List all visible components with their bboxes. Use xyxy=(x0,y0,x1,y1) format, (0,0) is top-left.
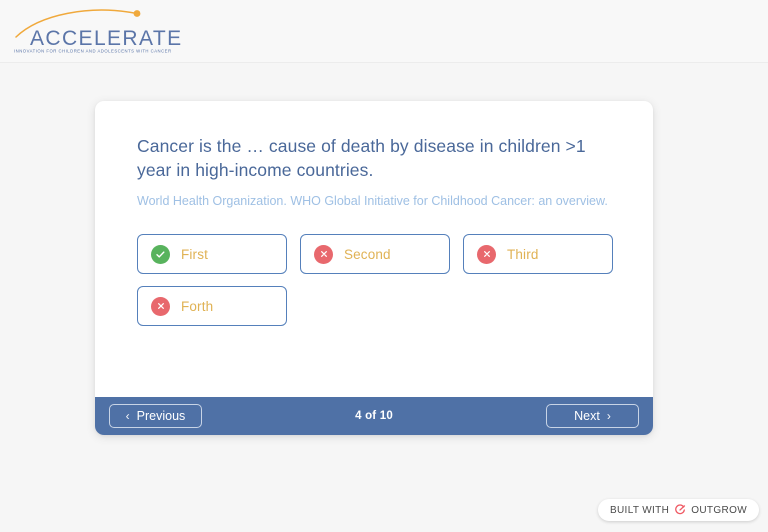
question-source-citation: World Health Organization. WHO Global In… xyxy=(137,193,611,211)
answer-option-third[interactable]: Third xyxy=(463,234,613,274)
accelerate-logo[interactable]: ACCELERATE INNOVATION FOR CHILDREN AND A… xyxy=(12,4,172,56)
answer-option-first[interactable]: First xyxy=(137,234,287,274)
logo-tagline: INNOVATION FOR CHILDREN AND ADOLESCENTS … xyxy=(14,49,172,54)
logo-wordmark: ACCELERATE xyxy=(30,27,182,51)
page-header: ACCELERATE INNOVATION FOR CHILDREN AND A… xyxy=(0,0,768,63)
built-with-outgrow-badge[interactable]: BUILT WITH OUTGROW xyxy=(598,499,759,521)
answer-option-label: First xyxy=(181,247,208,262)
next-button[interactable]: Next › xyxy=(546,404,639,428)
badge-brand-label: OUTGROW xyxy=(691,505,747,516)
chevron-left-icon: ‹ xyxy=(126,410,130,422)
answer-option-label: Forth xyxy=(181,299,213,314)
x-circle-icon xyxy=(151,297,170,316)
check-circle-icon xyxy=(151,245,170,264)
previous-button-label: Previous xyxy=(137,409,186,423)
answer-option-label: Third xyxy=(507,247,539,262)
quiz-card: Cancer is the … cause of death by diseas… xyxy=(95,101,653,435)
question-text: Cancer is the … cause of death by diseas… xyxy=(137,134,597,182)
x-circle-icon xyxy=(314,245,333,264)
quiz-card-body: Cancer is the … cause of death by diseas… xyxy=(95,101,653,397)
outgrow-logo-icon xyxy=(674,504,686,516)
answer-option-second[interactable]: Second xyxy=(300,234,450,274)
chevron-right-icon: › xyxy=(607,410,611,422)
badge-prefix-label: BUILT WITH xyxy=(610,505,669,516)
answer-options-list: First Second Third xyxy=(137,234,619,326)
answer-option-label: Second xyxy=(344,247,391,262)
x-circle-icon xyxy=(477,245,496,264)
previous-button[interactable]: ‹ Previous xyxy=(109,404,202,428)
answer-option-forth[interactable]: Forth xyxy=(137,286,287,326)
quiz-navigation-bar: ‹ Previous 4 of 10 Next › xyxy=(95,397,653,435)
next-button-label: Next xyxy=(574,409,600,423)
